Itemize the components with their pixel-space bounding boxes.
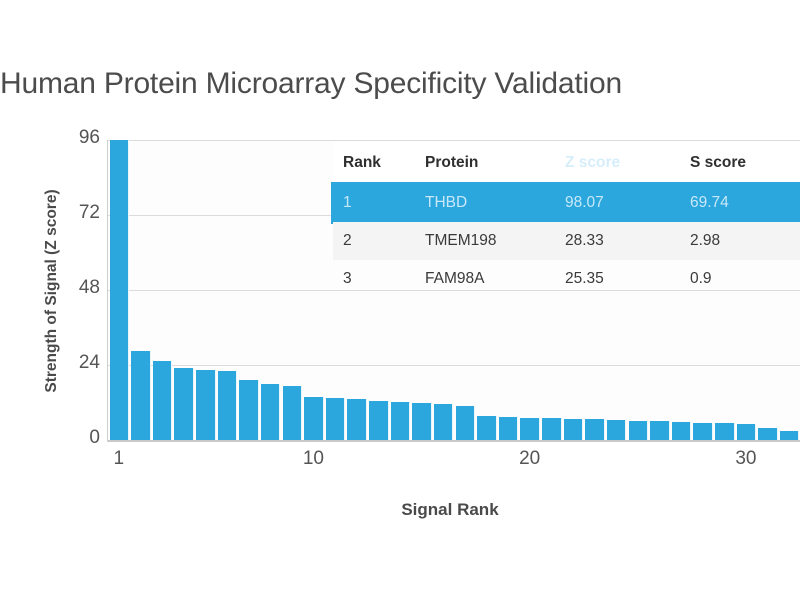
table-row[interactable]: 2TMEM19828.332.98 — [333, 222, 800, 260]
column-header-s-score: S score — [680, 154, 800, 172]
y-tick-label: 72 — [0, 202, 100, 224]
x-tick-label: 30 — [726, 448, 766, 470]
bar — [564, 419, 584, 440]
bar — [542, 418, 562, 440]
cell-rank: 1 — [333, 194, 415, 212]
bar — [629, 421, 649, 440]
cell-z-score: 98.07 — [555, 194, 680, 212]
bar — [607, 420, 627, 440]
bar — [499, 417, 519, 440]
x-tick-label: 20 — [510, 448, 550, 470]
bar — [131, 351, 151, 440]
y-axis-tick-labels: 024487296 — [0, 140, 100, 440]
bar — [780, 431, 800, 440]
bar — [326, 398, 346, 440]
y-tick-label: 96 — [0, 127, 100, 149]
bar — [434, 404, 454, 440]
table-header-row: Rank Protein Z score S score — [333, 142, 800, 184]
bar — [520, 418, 540, 441]
bar — [391, 402, 411, 440]
bar — [412, 403, 432, 440]
x-tick-label: 1 — [99, 448, 139, 470]
bar — [174, 368, 194, 441]
bar — [737, 424, 757, 440]
chart-figure: Human Protein Microarray Specificity Val… — [0, 0, 800, 600]
bar — [110, 140, 130, 440]
bar — [283, 386, 303, 440]
y-tick-label: 0 — [0, 427, 100, 449]
bar — [369, 401, 389, 440]
x-axis-line — [108, 440, 800, 442]
x-tick-label: 10 — [293, 448, 333, 470]
cell-protein: FAM98A — [415, 270, 555, 288]
bar — [261, 384, 281, 440]
bar — [239, 380, 259, 440]
bar — [347, 399, 367, 440]
column-header-protein: Protein — [415, 154, 555, 172]
bar — [715, 423, 735, 440]
bar — [304, 397, 324, 440]
cell-s-score: 0.9 — [680, 270, 800, 288]
cell-protein: TMEM198 — [415, 232, 555, 250]
cell-z-score: 25.35 — [555, 270, 680, 288]
bar — [650, 421, 670, 440]
bar — [758, 428, 778, 441]
bar — [477, 416, 497, 440]
cell-s-score: 2.98 — [680, 232, 800, 250]
bar — [218, 371, 238, 440]
y-tick-label: 24 — [0, 352, 100, 374]
table-row[interactable]: 3FAM98A25.350.9 — [333, 260, 800, 298]
table-row[interactable]: 1THBD98.0769.74 — [333, 184, 800, 222]
y-tick-label: 48 — [0, 277, 100, 299]
table-body: 1THBD98.0769.742TMEM19828.332.983FAM98A2… — [333, 184, 800, 298]
cell-protein: THBD — [415, 194, 555, 212]
page-title: Human Protein Microarray Specificity Val… — [0, 62, 800, 106]
cell-s-score: 69.74 — [680, 194, 800, 212]
column-header-rank: Rank — [333, 154, 415, 172]
top-hits-table: Rank Protein Z score S score 1THBD98.076… — [333, 142, 800, 298]
x-axis-title: Signal Rank — [100, 500, 800, 520]
bar — [585, 419, 605, 440]
column-header-z-score: Z score — [555, 154, 680, 172]
x-axis-tick-labels: 1102030 — [108, 448, 800, 478]
bar — [153, 361, 173, 440]
cell-rank: 3 — [333, 270, 415, 288]
bar — [456, 406, 476, 440]
bar — [693, 423, 713, 441]
bar — [672, 422, 692, 440]
bar — [196, 370, 216, 440]
cell-rank: 2 — [333, 232, 415, 250]
cell-z-score: 28.33 — [555, 232, 680, 250]
